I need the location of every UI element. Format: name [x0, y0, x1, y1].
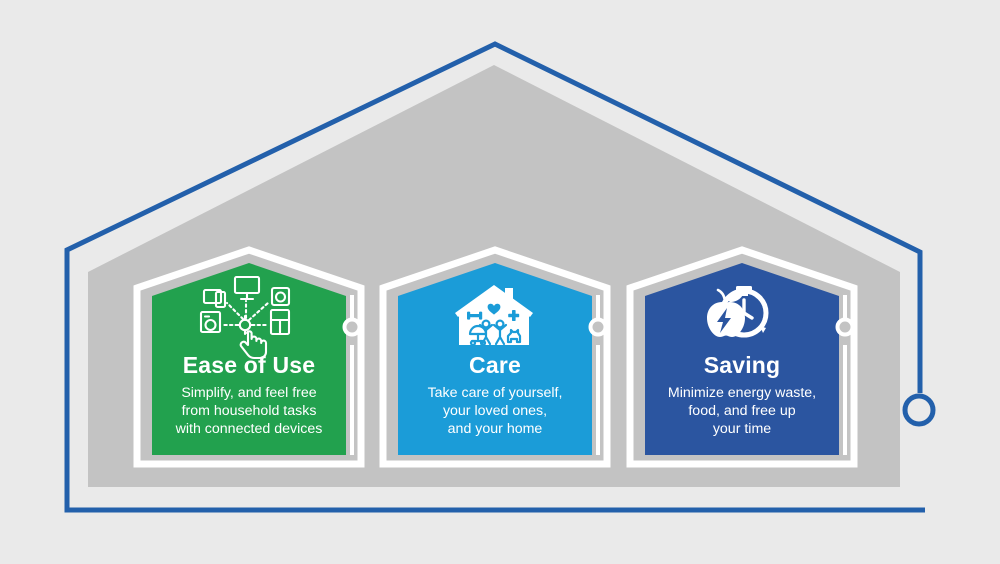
card-saving-title: Saving	[645, 352, 839, 378]
card-ease-of-use-connector-circle	[345, 320, 360, 335]
card-saving-description: Minimize energy waste, food, and free up…	[645, 378, 839, 438]
card-care-title: Care	[398, 352, 592, 378]
card-saving-text: Saving Minimize energy waste, food, and …	[645, 352, 839, 438]
card-care-text: Care Take care of yourself, your loved o…	[398, 352, 592, 438]
card-ease-of-use-title: Ease of Use	[152, 352, 346, 378]
card-care-description: Take care of yourself, your loved ones, …	[398, 378, 592, 438]
card-ease-of-use-text: Ease of Use Simplify, and feel free from…	[152, 352, 346, 438]
card-ease-of-use-description: Simplify, and feel free from household t…	[152, 378, 346, 438]
card-saving-connector-circle	[838, 320, 853, 335]
cards-layer	[0, 0, 1000, 564]
infographic-canvas: Ease of Use Simplify, and feel free from…	[0, 0, 1000, 564]
card-care-connector-circle	[591, 320, 606, 335]
